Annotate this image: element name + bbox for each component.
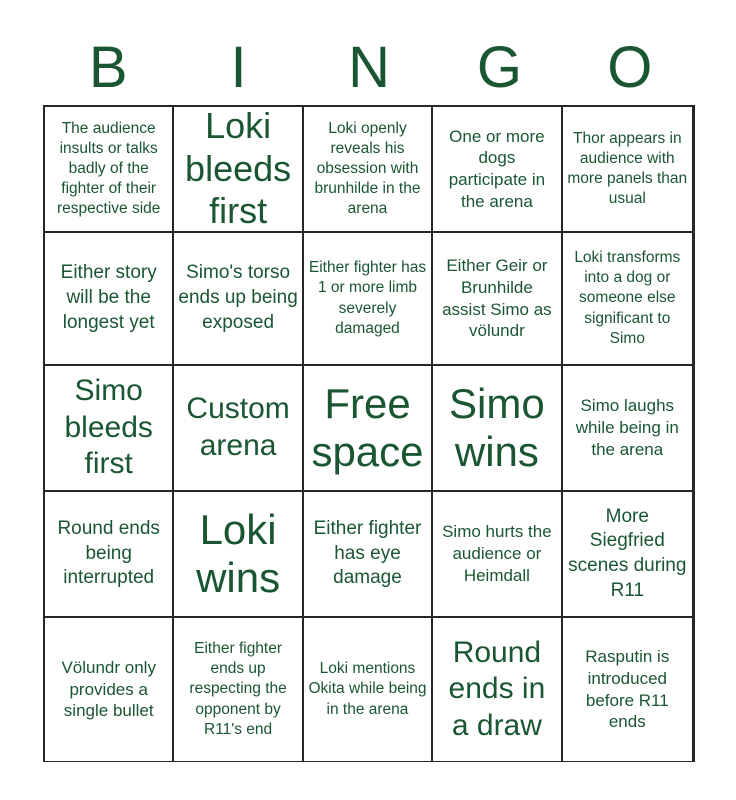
bingo-cell[interactable]: Rasputin is introduced before R11 ends (563, 618, 692, 761)
bingo-cell-label: Loki openly reveals his obsession with b… (308, 119, 427, 220)
bingo-cell[interactable]: Loki bleeds first (174, 107, 303, 233)
bingo-cell-label: Simo laughs while being in the arena (567, 395, 688, 460)
bingo-cell[interactable]: Loki wins (174, 492, 303, 618)
bingo-cell[interactable]: Loki openly reveals his obsession with b… (304, 107, 433, 233)
bingo-cell[interactable]: The audience insults or talks badly of t… (45, 107, 174, 233)
bingo-cell-label: More Siegfried scenes during R11 (567, 505, 688, 604)
bingo-cell-label: Loki mentions Okita while being in the a… (308, 659, 427, 719)
bingo-cell[interactable]: Simo laughs while being in the arena (563, 366, 692, 492)
bingo-cell[interactable]: Round ends being interrupted (45, 492, 174, 618)
bingo-cell[interactable]: Either fighter has 1 or more limb severe… (304, 233, 433, 366)
bingo-cell[interactable]: Either story will be the longest yet (45, 233, 174, 366)
bingo-cell-label: Rasputin is introduced before R11 ends (567, 646, 688, 733)
bingo-cell[interactable]: Either fighter has eye damage (304, 492, 433, 618)
bingo-cell[interactable]: Völundr only provides a single bullet (45, 618, 174, 761)
bingo-cell-label: Loki transforms into a dog or someone el… (567, 248, 688, 349)
bingo-cell-label: Either Geir or Brunhilde assist Simo as … (437, 255, 556, 342)
bingo-cell[interactable]: More Siegfried scenes during R11 (563, 492, 692, 618)
bingo-cell-label: Loki wins (178, 506, 297, 602)
bingo-cell-label: Either story will be the longest yet (49, 261, 168, 335)
bingo-cell-label: Either fighter has eye damage (308, 517, 427, 591)
bingo-cell-label: Simo wins (437, 380, 556, 476)
bingo-cell[interactable]: Simo's torso ends up being exposed (174, 233, 303, 366)
bingo-header-letter-n: N (304, 34, 434, 102)
bingo-cell-label: Loki bleeds first (178, 107, 297, 233)
bingo-cell-label: Custom arena (178, 391, 297, 464)
bingo-card: B I N G O The audience insults or talks … (0, 0, 736, 800)
bingo-cell-label: Either fighter has 1 or more limb severe… (308, 258, 427, 339)
bingo-cell[interactable]: Round ends in a draw (433, 618, 562, 761)
bingo-cell-label: Free space (308, 380, 427, 476)
bingo-cell[interactable]: Simo hurts the audience or Heimdall (433, 492, 562, 618)
bingo-cell[interactable]: Custom arena (174, 366, 303, 492)
bingo-cell[interactable]: Loki transforms into a dog or someone el… (563, 233, 692, 366)
bingo-header-letter-i: I (173, 34, 303, 102)
bingo-cell-label: Simo hurts the audience or Heimdall (437, 521, 556, 586)
bingo-header-letter-b: B (43, 34, 173, 102)
bingo-header-letter-g: G (434, 34, 564, 102)
bingo-cell[interactable]: One or more dogs participate in the aren… (433, 107, 562, 233)
bingo-cell-label: Round ends in a draw (437, 635, 556, 745)
bingo-cell[interactable]: Either Geir or Brunhilde assist Simo as … (433, 233, 562, 366)
bingo-cell[interactable]: Simo wins (433, 366, 562, 492)
bingo-cell-label: Simo bleeds first (49, 373, 168, 483)
bingo-cell[interactable]: Either fighter ends up respecting the op… (174, 618, 303, 761)
bingo-cell-label: Either fighter ends up respecting the op… (178, 639, 297, 740)
bingo-grid: The audience insults or talks badly of t… (43, 105, 695, 762)
bingo-cell-label: Völundr only provides a single bullet (49, 657, 168, 722)
bingo-header: B I N G O (43, 34, 695, 102)
bingo-cell-free-space[interactable]: Free space (304, 366, 433, 492)
bingo-cell[interactable]: Thor appears in audience with more panel… (563, 107, 692, 233)
bingo-cell-label: Thor appears in audience with more panel… (567, 129, 688, 210)
bingo-cell[interactable]: Simo bleeds first (45, 366, 174, 492)
bingo-cell-label: The audience insults or talks badly of t… (49, 119, 168, 220)
bingo-cell-label: One or more dogs participate in the aren… (437, 126, 556, 213)
bingo-cell-label: Simo's torso ends up being exposed (178, 261, 297, 335)
bingo-cell[interactable]: Loki mentions Okita while being in the a… (304, 618, 433, 761)
bingo-header-letter-o: O (565, 34, 695, 102)
bingo-cell-label: Round ends being interrupted (49, 517, 168, 591)
